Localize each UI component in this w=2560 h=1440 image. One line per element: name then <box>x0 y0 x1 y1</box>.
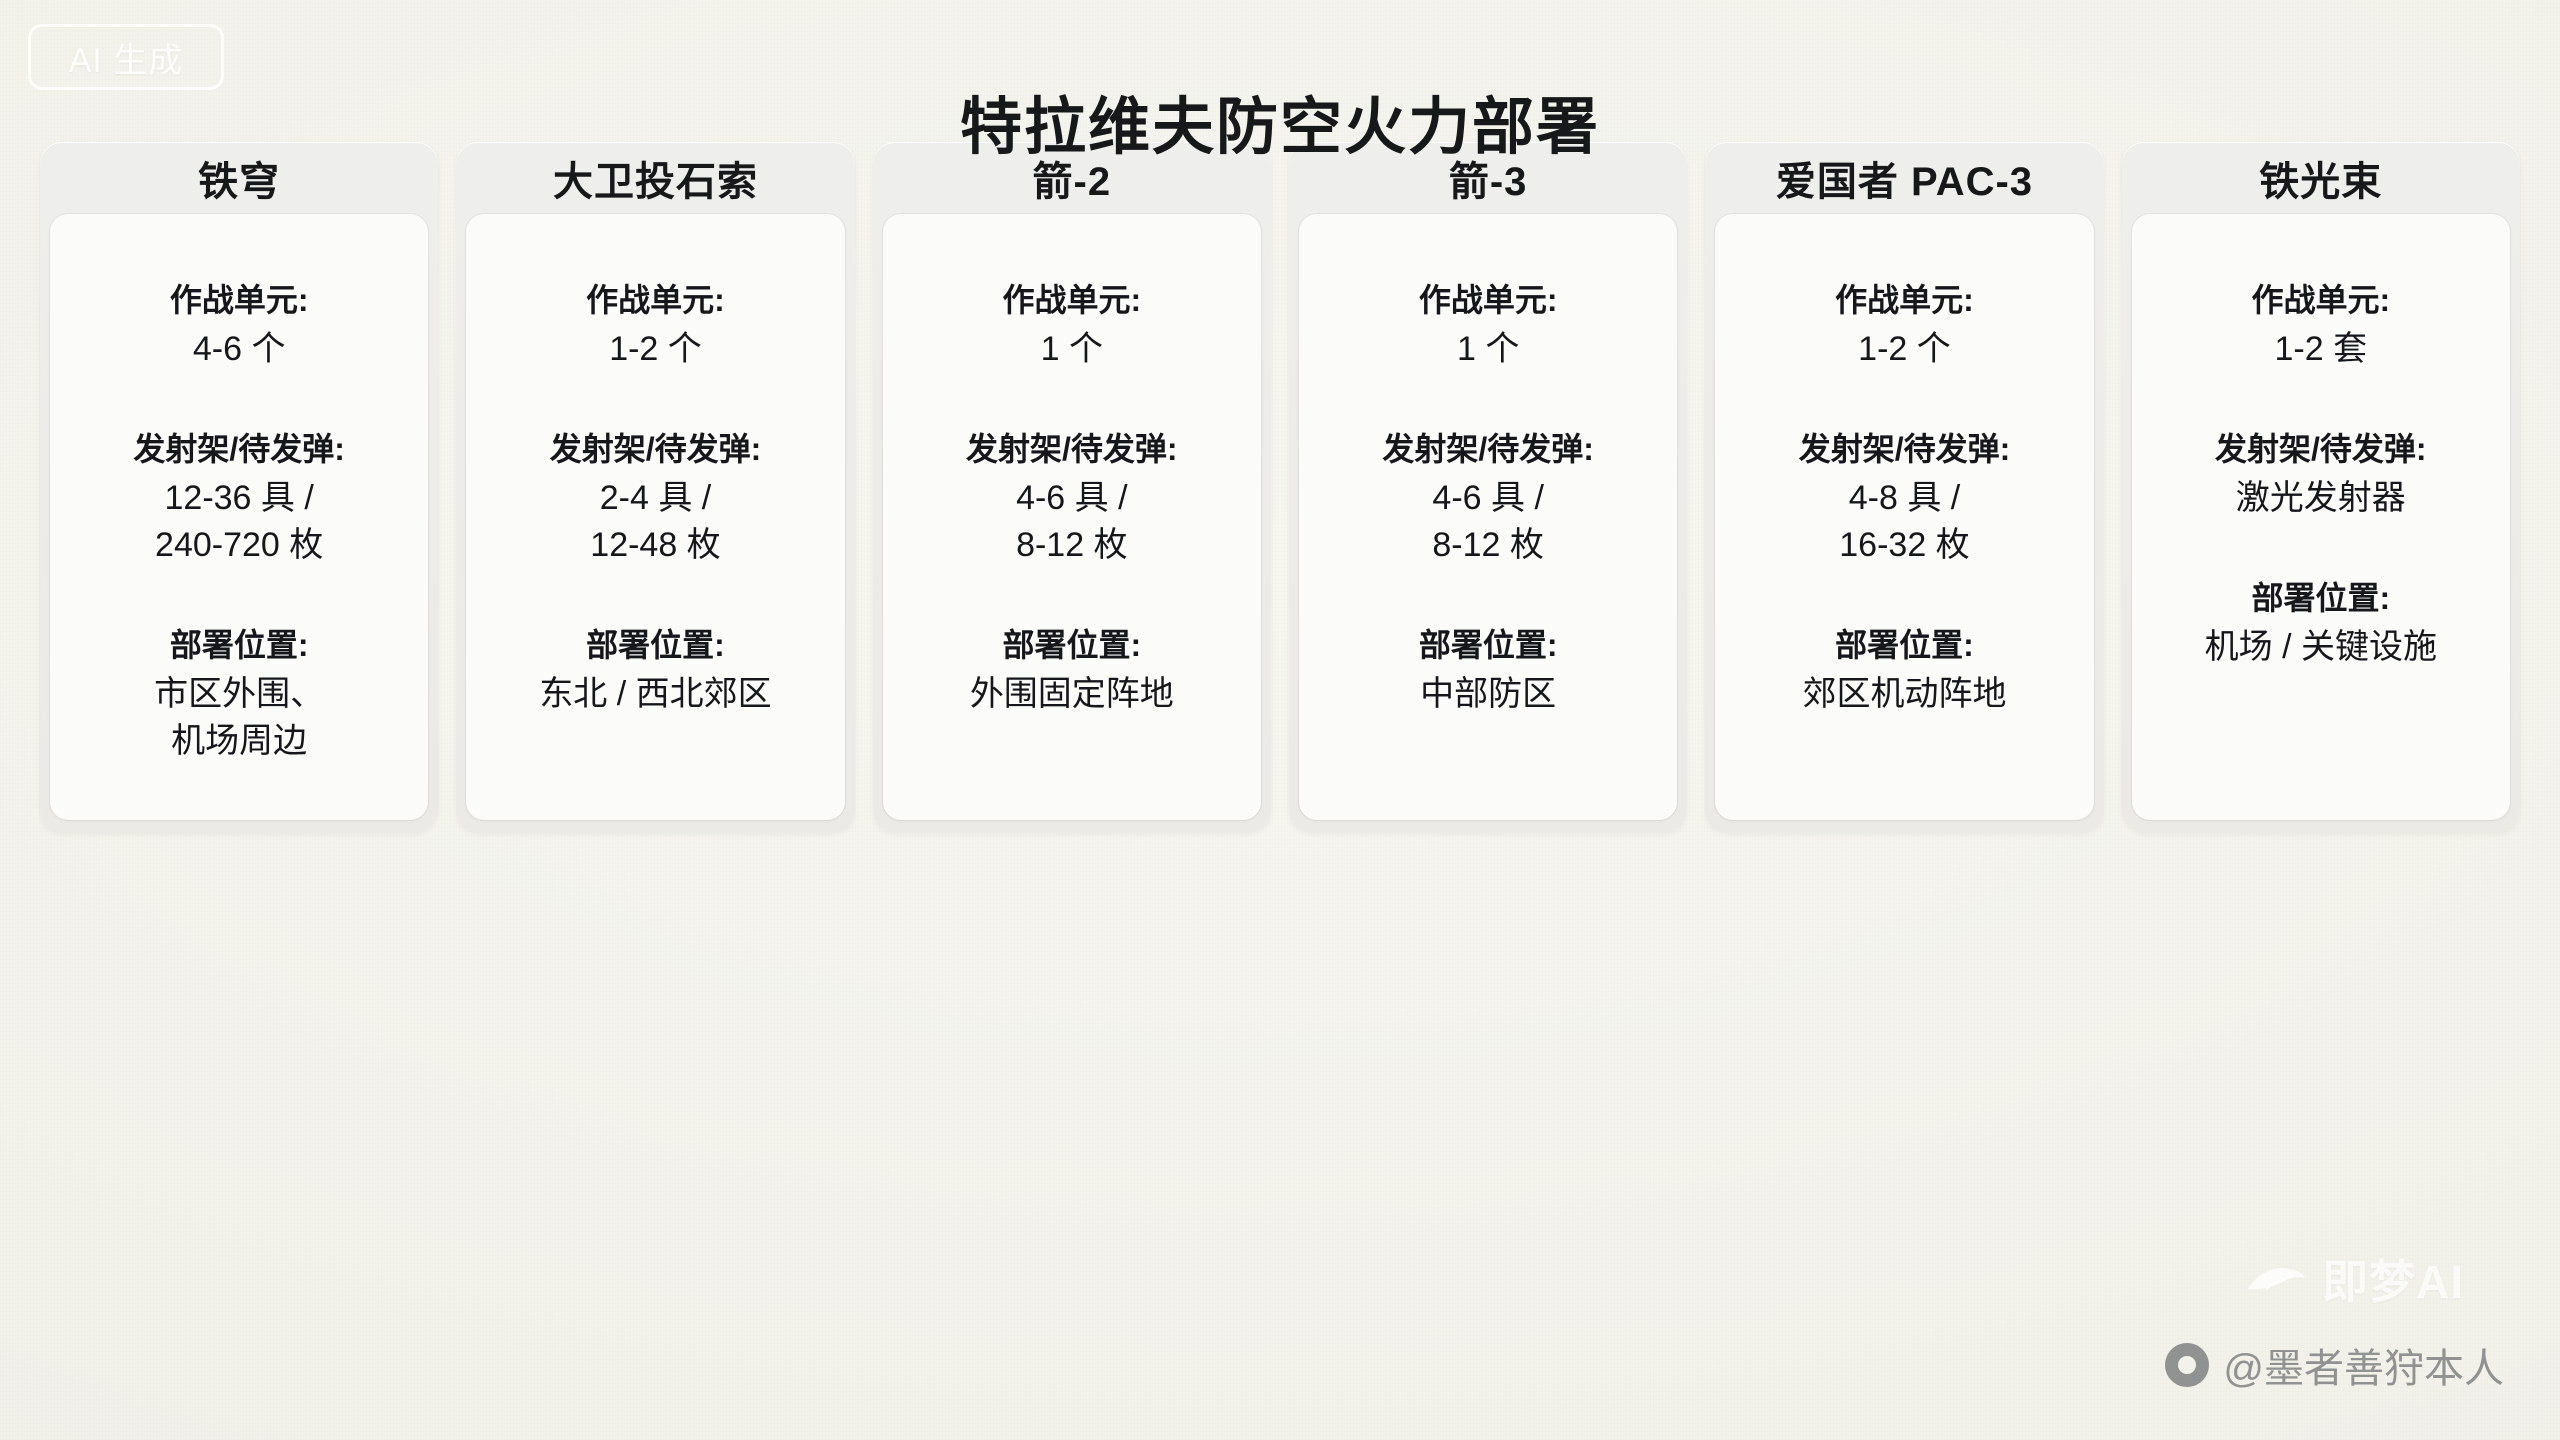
field-units-value: 1-2 个 <box>1723 326 2085 373</box>
system-card-body: 作战单元: 1-2 套 发射架/待发弹: 激光发射器 部署位置: 机场 / 关键… <box>2132 214 2510 820</box>
system-card-body: 作战单元: 1-2 个 发射架/待发弹: 4-8 具 / 16-32 枚 部署位… <box>1715 214 2093 820</box>
field-units-label: 作战单元: <box>474 278 836 322</box>
system-card: 爱国者 PAC-3 作战单元: 1-2 个 发射架/待发弹: 4-8 具 / 1… <box>1705 142 2103 832</box>
field-units-label: 作战单元: <box>1307 278 1669 322</box>
field-location-value: 机场 / 关键设施 <box>2140 624 2502 671</box>
field-location-value: 郊区机动阵地 <box>1723 671 2085 718</box>
system-card: 铁穹 作战单元: 4-6 个 发射架/待发弹: 12-36 具 / 240-72… <box>40 142 438 832</box>
field-launchers: 发射架/待发弹: 4-6 具 / 8-12 枚 <box>1307 427 1669 569</box>
field-launchers-label: 发射架/待发弹: <box>2140 427 2502 471</box>
field-launchers: 发射架/待发弹: 12-36 具 / 240-720 枚 <box>58 427 420 569</box>
field-location: 部署位置: 外围固定阵地 <box>891 623 1253 718</box>
field-location-value: 市区外围、 机场周边 <box>58 671 420 765</box>
field-location: 部署位置: 郊区机动阵地 <box>1723 623 2085 718</box>
field-location-value: 东北 / 西北郊区 <box>474 671 836 718</box>
weibo-logo-icon <box>2165 1343 2209 1387</box>
ai-badge-label: AI 生成 <box>69 33 184 82</box>
field-launchers-label: 发射架/待发弹: <box>474 427 836 471</box>
system-card-body: 作战单元: 1 个 发射架/待发弹: 4-6 具 / 8-12 枚 部署位置: … <box>1299 214 1677 820</box>
field-launchers-label: 发射架/待发弹: <box>1307 427 1669 471</box>
field-location: 部署位置: 中部防区 <box>1307 623 1669 718</box>
system-card-body: 作战单元: 4-6 个 发射架/待发弹: 12-36 具 / 240-720 枚… <box>50 214 428 820</box>
field-units: 作战单元: 1-2 个 <box>1723 278 2085 373</box>
system-card-body: 作战单元: 1 个 发射架/待发弹: 4-6 具 / 8-12 枚 部署位置: … <box>883 214 1261 820</box>
field-launchers-value: 4-6 具 / 8-12 枚 <box>891 475 1253 569</box>
system-card: 大卫投石索 作战单元: 1-2 个 发射架/待发弹: 2-4 具 / 12-48… <box>456 142 854 832</box>
field-launchers: 发射架/待发弹: 激光发射器 <box>2140 427 2502 522</box>
field-location-value: 外围固定阵地 <box>891 671 1253 718</box>
field-launchers-value: 12-36 具 / 240-720 枚 <box>58 475 420 569</box>
field-units-label: 作战单元: <box>891 278 1253 322</box>
field-launchers-value: 2-4 具 / 12-48 枚 <box>474 475 836 569</box>
field-location-value: 中部防区 <box>1307 671 1669 718</box>
defense-systems-card-row: 铁穹 作战单元: 4-6 个 发射架/待发弹: 12-36 具 / 240-72… <box>40 142 2520 832</box>
field-launchers: 发射架/待发弹: 2-4 具 / 12-48 枚 <box>474 427 836 569</box>
jimeng-label: 即梦AI <box>2322 1246 2464 1312</box>
field-launchers-label: 发射架/待发弹: <box>1723 427 2085 471</box>
field-units-value: 4-6 个 <box>58 326 420 373</box>
page-title: 特拉维夫防空火力部署 <box>0 76 2560 166</box>
weibo-handle-label: @墨者善狩本人 <box>2223 1336 2504 1394</box>
field-location: 部署位置: 东北 / 西北郊区 <box>474 623 836 718</box>
field-units-label: 作战单元: <box>58 278 420 322</box>
jimeng-bird-icon <box>2246 1259 2308 1299</box>
field-launchers-label: 发射架/待发弹: <box>891 427 1253 471</box>
field-launchers: 发射架/待发弹: 4-8 具 / 16-32 枚 <box>1723 427 2085 569</box>
field-location-label: 部署位置: <box>1307 623 1669 667</box>
field-location: 部署位置: 市区外围、 机场周边 <box>58 623 420 765</box>
system-card: 铁光束 作战单元: 1-2 套 发射架/待发弹: 激光发射器 部署位置: 机场 … <box>2122 142 2520 832</box>
field-units: 作战单元: 1-2 套 <box>2140 278 2502 373</box>
field-units-value: 1 个 <box>891 326 1253 373</box>
field-launchers-value: 4-8 具 / 16-32 枚 <box>1723 475 2085 569</box>
field-units: 作战单元: 1 个 <box>1307 278 1669 373</box>
system-card: 箭-2 作战单元: 1 个 发射架/待发弹: 4-6 具 / 8-12 枚 部署… <box>873 142 1271 832</box>
weibo-watermark: @墨者善狩本人 <box>2165 1336 2504 1394</box>
field-launchers-value: 激光发射器 <box>2140 475 2502 522</box>
field-units: 作战单元: 1-2 个 <box>474 278 836 373</box>
jimeng-ai-watermark: 即梦AI <box>2246 1246 2464 1312</box>
field-launchers: 发射架/待发弹: 4-6 具 / 8-12 枚 <box>891 427 1253 569</box>
ai-generated-watermark-badge: AI 生成 <box>28 24 224 90</box>
field-units-value: 1 个 <box>1307 326 1669 373</box>
field-units: 作战单元: 1 个 <box>891 278 1253 373</box>
system-card: 箭-3 作战单元: 1 个 发射架/待发弹: 4-6 具 / 8-12 枚 部署… <box>1289 142 1687 832</box>
field-units: 作战单元: 4-6 个 <box>58 278 420 373</box>
field-units-value: 1-2 套 <box>2140 326 2502 373</box>
field-location-label: 部署位置: <box>474 623 836 667</box>
field-launchers-value: 4-6 具 / 8-12 枚 <box>1307 475 1669 569</box>
field-location: 部署位置: 机场 / 关键设施 <box>2140 576 2502 671</box>
field-location-label: 部署位置: <box>891 623 1253 667</box>
system-card-body: 作战单元: 1-2 个 发射架/待发弹: 2-4 具 / 12-48 枚 部署位… <box>466 214 844 820</box>
field-units-label: 作战单元: <box>1723 278 2085 322</box>
field-location-label: 部署位置: <box>58 623 420 667</box>
field-units-label: 作战单元: <box>2140 278 2502 322</box>
field-location-label: 部署位置: <box>1723 623 2085 667</box>
field-location-label: 部署位置: <box>2140 576 2502 620</box>
field-units-value: 1-2 个 <box>474 326 836 373</box>
field-launchers-label: 发射架/待发弹: <box>58 427 420 471</box>
